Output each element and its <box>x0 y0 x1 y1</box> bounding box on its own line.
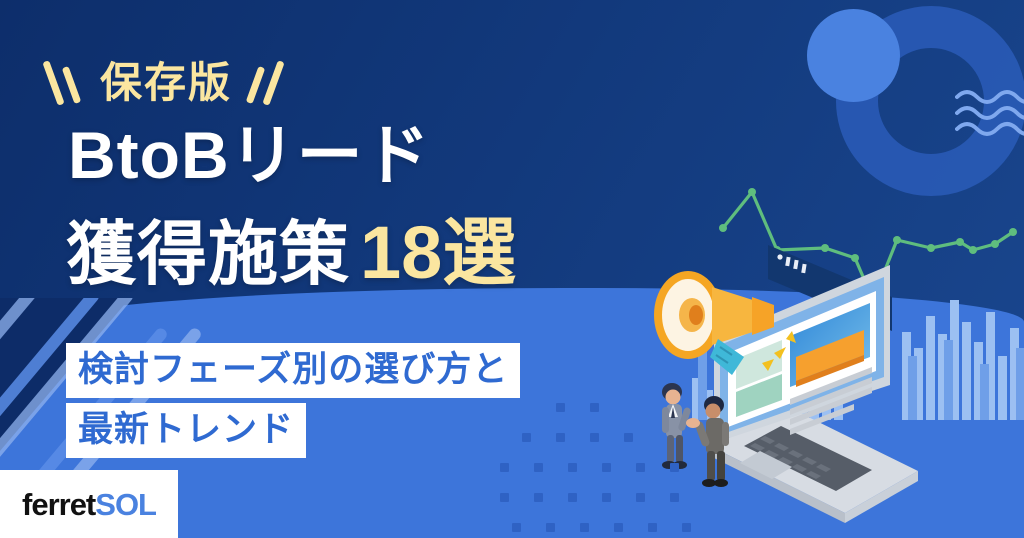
logo-ferret-sol[interactable]: ferretSOL <box>0 470 178 538</box>
logo-brand: ferret <box>22 487 95 522</box>
dot-grid-pattern <box>500 395 730 538</box>
badge-hozonban: 保存版 <box>46 57 286 109</box>
wave-lines-icon <box>955 85 1024 145</box>
logo-text: ferretSOL <box>22 489 156 520</box>
solid-circle-shape <box>807 9 900 102</box>
logo-product: SOL <box>95 487 156 522</box>
subtitle-line-1: 検討フェーズ別の選び方と <box>66 343 520 398</box>
slash-right-icon <box>246 58 286 108</box>
subtitle-line-2: 最新トレンド <box>66 403 306 458</box>
headline-line-2-white: 獲得施策 <box>66 219 350 289</box>
headline-line-2: 獲得施策 18選 <box>66 216 516 290</box>
slash-left-icon <box>46 58 86 108</box>
banner-canvas: 保存版 BtoBリード 獲得施策 18選 検討フェーズ別の選び方と 最新トレンド… <box>0 0 1024 538</box>
headline-line-1: BtoBリード <box>68 122 431 188</box>
headline-count-accent: 18選 <box>360 216 516 290</box>
badge-label: 保存版 <box>100 62 232 104</box>
